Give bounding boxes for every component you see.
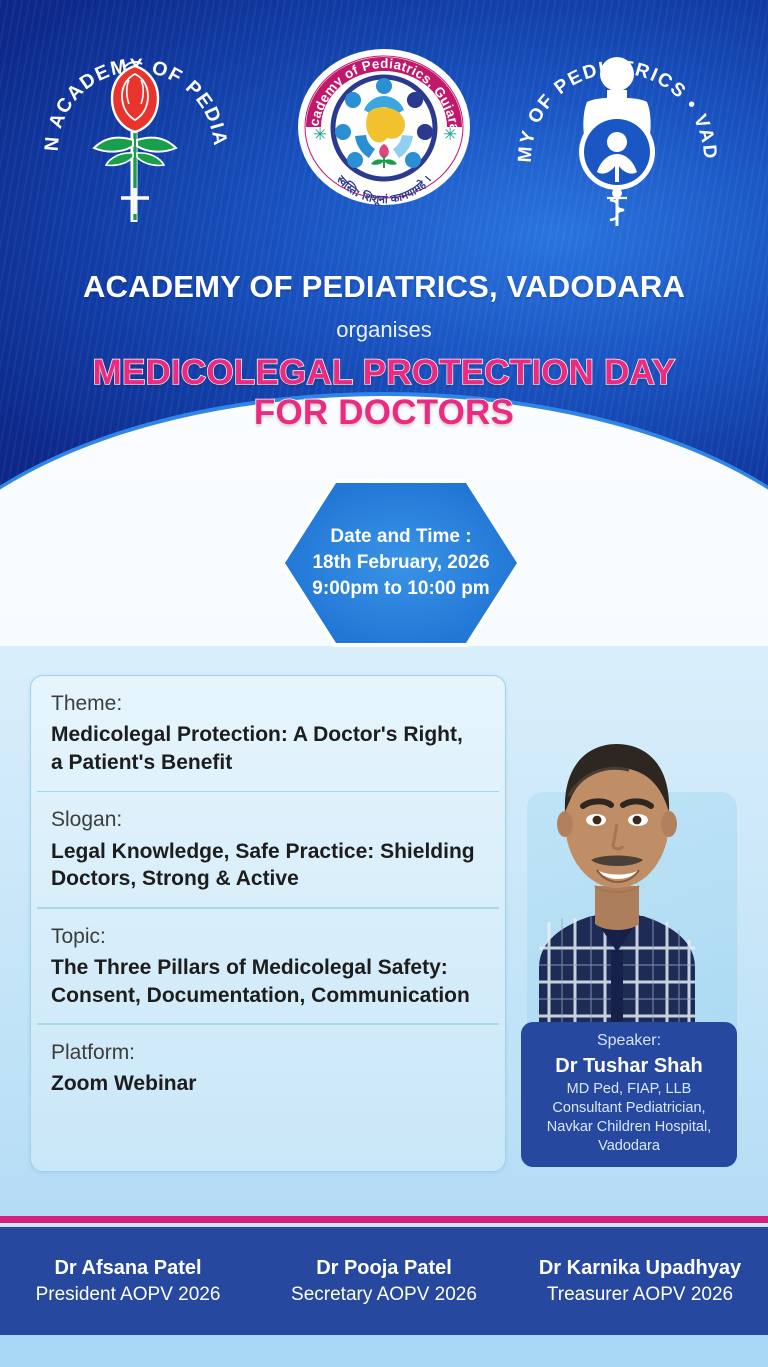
speaker-role-label: Speaker: <box>529 1031 729 1052</box>
official-president: Dr Afsana Patel President AOPV 2026 <box>0 1255 256 1308</box>
official-role: President AOPV 2026 <box>0 1282 256 1308</box>
header-text-block: ACADEMY OF PEDIATRICS, VADODARA organise… <box>0 270 768 433</box>
bottom-strip <box>0 1335 768 1367</box>
indian-academy-of-pediatrics-logo: INDIAN ACADEMY OF PEDIATRICS <box>36 22 236 237</box>
svg-text:✳: ✳ <box>443 125 457 144</box>
theme-value-line-2: a Patient's Benefit <box>51 749 487 777</box>
pink-divider-bar <box>0 1216 768 1223</box>
topic-value-line-1: The Three Pillars of Medicolegal Safety: <box>51 954 487 982</box>
official-secretary: Dr Pooja Patel Secretary AOPV 2026 <box>256 1255 512 1308</box>
event-poster: INDIAN ACADEMY OF PEDIATRICS <box>0 0 768 1367</box>
speaker-info-box: Speaker: Dr Tushar Shah MD Ped, FIAP, LL… <box>521 1022 737 1167</box>
date-badge-text: Date and Time : 18th February, 2026 9:00… <box>285 483 517 643</box>
officials-footer: Dr Afsana Patel President AOPV 2026 Dr P… <box>0 1227 768 1335</box>
platform-section: Platform: Zoom Webinar <box>31 1025 505 1112</box>
speaker-name: Dr Tushar Shah <box>529 1053 729 1080</box>
event-title-line-2: FOR DOCTORS <box>0 393 768 433</box>
time-value: 9:00pm to 10:00 pm <box>312 576 489 602</box>
event-title-line-1: MEDICOLEGAL PROTECTION DAY <box>0 353 768 393</box>
slogan-value-line-2: Doctors, Strong & Active <box>51 865 487 893</box>
official-name: Dr Afsana Patel <box>0 1255 256 1282</box>
details-card: Theme: Medicolegal Protection: A Doctor'… <box>30 675 506 1172</box>
date-value: 18th February, 2026 <box>312 550 489 576</box>
theme-value-line-1: Medicolegal Protection: A Doctor's Right… <box>51 721 487 749</box>
platform-label: Platform: <box>51 1039 487 1067</box>
organises-label: organises <box>0 317 768 343</box>
slogan-label: Slogan: <box>51 806 487 834</box>
topic-section: Topic: The Three Pillars of Medicolegal … <box>31 909 505 1024</box>
speaker-credential-2: Consultant Pediatrician, <box>529 1099 729 1118</box>
theme-label: Theme: <box>51 690 487 718</box>
theme-value: Medicolegal Protection: A Doctor's Right… <box>51 721 487 776</box>
official-role: Secretary AOPV 2026 <box>256 1282 512 1308</box>
speaker-photo <box>513 700 721 1055</box>
official-name: Dr Pooja Patel <box>256 1255 512 1282</box>
topic-value: The Three Pillars of Medicolegal Safety:… <box>51 954 487 1009</box>
official-name: Dr Karnika Upadhyay <box>512 1255 768 1282</box>
organisation-name: ACADEMY OF PEDIATRICS, VADODARA <box>0 270 768 304</box>
slogan-section: Slogan: Legal Knowledge, Safe Practice: … <box>31 792 505 907</box>
svg-text:✳: ✳ <box>313 125 327 144</box>
academy-of-pediatrics-gujarat-logo: Academy of Pediatrics, Gujarat <box>295 48 473 206</box>
topic-value-line-2: Consent, Documentation, Communication <box>51 982 487 1010</box>
slogan-value: Legal Knowledge, Safe Practice: Shieldin… <box>51 838 487 893</box>
speaker-credential-3: Navkar Children Hospital, <box>529 1118 729 1137</box>
speaker-credential-1: MD Ped, FIAP, LLB <box>529 1080 729 1099</box>
event-title: MEDICOLEGAL PROTECTION DAY FOR DOCTORS <box>0 353 768 433</box>
theme-section: Theme: Medicolegal Protection: A Doctor'… <box>31 676 505 791</box>
speaker-credential-4: Vadodara <box>529 1137 729 1156</box>
topic-label: Topic: <box>51 923 487 951</box>
official-treasurer: Dr Karnika Upadhyay Treasurer AOPV 2026 <box>512 1255 768 1308</box>
platform-value: Zoom Webinar <box>51 1070 487 1098</box>
speaker-block: Speaker: Dr Tushar Shah MD Ped, FIAP, LL… <box>513 700 745 1170</box>
date-time-badge: Date and Time : 18th February, 2026 9:00… <box>285 483 517 643</box>
official-role: Treasurer AOPV 2026 <box>512 1282 768 1308</box>
academy-of-pediatrics-vadodara-logo: ACADEMY OF PEDIATRICS • VADODARA <box>515 30 720 235</box>
slogan-value-line-1: Legal Knowledge, Safe Practice: Shieldin… <box>51 838 487 866</box>
logo-row: INDIAN ACADEMY OF PEDIATRICS <box>0 0 768 250</box>
date-label: Date and Time : <box>330 524 471 550</box>
